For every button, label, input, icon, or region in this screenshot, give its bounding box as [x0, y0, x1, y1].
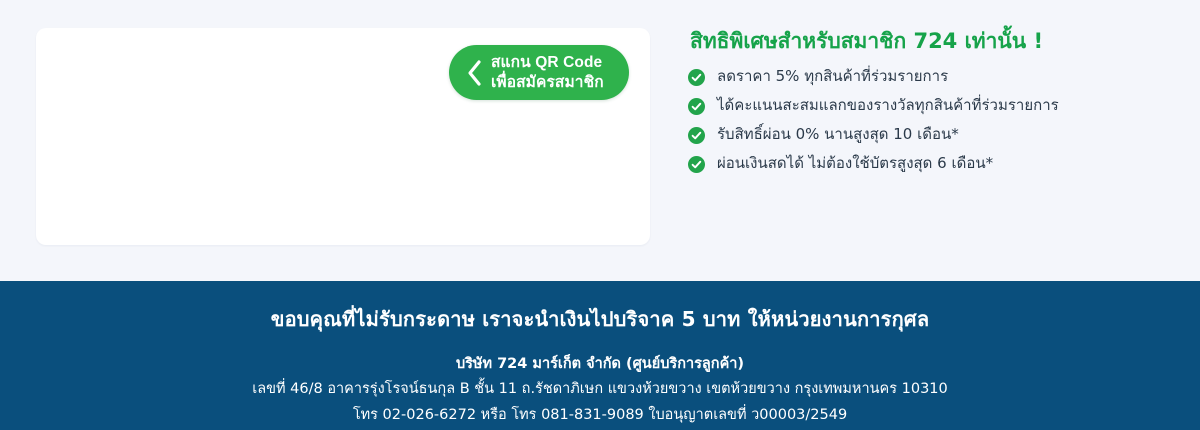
chevron-left-icon	[457, 59, 491, 87]
footer-address: เลขที่ 46/8 อาคารรุ่งโรจน์ธนกุล B ชั้น 1…	[0, 379, 1200, 400]
check-circle-icon	[688, 156, 705, 173]
benefit-text: ได้คะแนนสะสมแลกของรางวัลทุกสินค้าที่ร่วม…	[717, 96, 1059, 115]
list-item: ได้คะแนนสะสมแลกของรางวัลทุกสินค้าที่ร่วม…	[688, 96, 1158, 115]
footer-company-name: บริษัท 724 มาร์เก็ต จำกัด (ศูนย์บริการลู…	[0, 354, 1200, 374]
promo-page: สแกน QR Code เพื่อสมัครสมาชิก สิทธิพิเศษ…	[0, 0, 1200, 430]
list-item: ผ่อนเงินสดได้ ไม่ต้องใช้บัตรสูงสุด 6 เดื…	[688, 154, 1158, 173]
page-footer: ขอบคุณที่ไม่รับกระดาษ เราจะนำเงินไปบริจา…	[0, 281, 1200, 430]
list-item: รับสิทธิ์ผ่อน 0% นานสูงสุด 10 เดือน*	[688, 125, 1158, 144]
check-circle-icon	[688, 127, 705, 144]
scan-button-line2: เพื่อสมัครสมาชิก	[491, 73, 604, 93]
benefits-section: สิทธิพิเศษสำหรับสมาชิก 724 เท่านั้น ! ลด…	[688, 28, 1158, 183]
scan-qr-register-button[interactable]: สแกน QR Code เพื่อสมัครสมาชิก	[449, 45, 629, 100]
check-circle-icon	[688, 98, 705, 115]
scan-button-line1: สแกน QR Code	[491, 53, 604, 73]
upper-section: สแกน QR Code เพื่อสมัครสมาชิก สิทธิพิเศษ…	[0, 0, 1200, 281]
footer-headline: ขอบคุณที่ไม่รับกระดาษ เราจะนำเงินไปบริจา…	[0, 281, 1200, 332]
benefits-list: ลดราคา 5% ทุกสินค้าที่ร่วมรายการ ได้คะแน…	[688, 67, 1158, 173]
list-item: ลดราคา 5% ทุกสินค้าที่ร่วมรายการ	[688, 67, 1158, 86]
check-circle-icon	[688, 69, 705, 86]
benefits-title: สิทธิพิเศษสำหรับสมาชิก 724 เท่านั้น !	[690, 28, 1158, 55]
footer-contact-info: โทร 02-026-6272 หรือ โทร 081-831-9089 ใบ…	[0, 405, 1200, 426]
benefit-text: ลดราคา 5% ทุกสินค้าที่ร่วมรายการ	[717, 67, 948, 86]
benefit-text: ผ่อนเงินสดได้ ไม่ต้องใช้บัตรสูงสุด 6 เดื…	[717, 154, 993, 173]
scan-button-label: สแกน QR Code เพื่อสมัครสมาชิก	[491, 53, 616, 93]
benefit-text: รับสิทธิ์ผ่อน 0% นานสูงสุด 10 เดือน*	[717, 125, 959, 144]
